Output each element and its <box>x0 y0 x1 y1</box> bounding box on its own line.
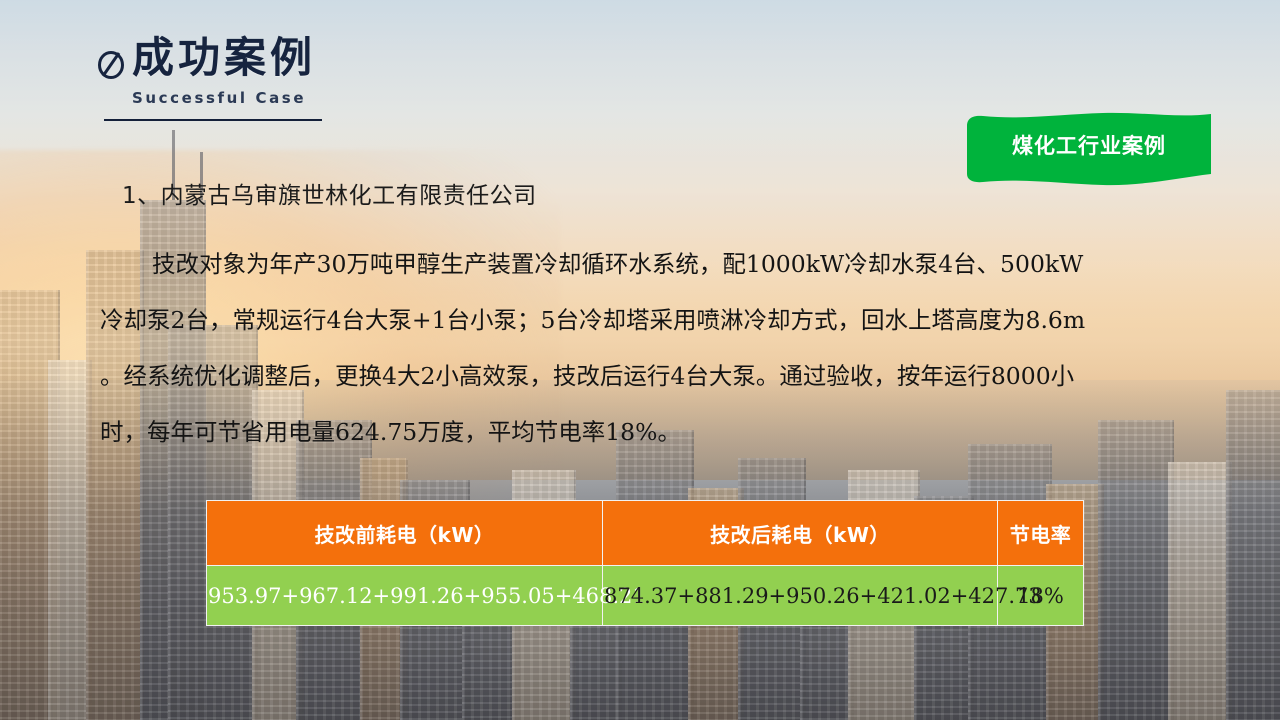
table-header-row: 技改前耗电（kW） 技改后耗电（kW） 节电率 <box>207 501 1084 566</box>
paragraph-line: 技改对象为年产30万吨甲醇生产装置冷却循环水系统，配1000kW冷却水泵4台、5… <box>100 236 1190 292</box>
paragraph-line: 。经系统优化调整后，更换4大2小高效泵，技改后运行4台大泵。通过验收，按年运行8… <box>100 348 1190 404</box>
presentation-slide: 成功案例 Successful Case 煤化工行业案例 1、内蒙古乌审旗世林化… <box>0 0 1280 720</box>
title-underline-divider <box>104 119 322 121</box>
table-header-cell-before: 技改前耗电（kW） <box>207 501 603 566</box>
circle-slash-icon <box>96 42 126 74</box>
energy-saving-table: 技改前耗电（kW） 技改后耗电（kW） 节电率 953.97+967.12+99… <box>206 500 1084 626</box>
table-row: 953.97+967.12+991.26+955.05+468.21 874.3… <box>207 566 1084 626</box>
paragraph-line: 冷却泵2台，常规运行4台大泵+1台小泵；5台冷却塔采用喷淋冷却方式，回水上塔高度… <box>100 292 1190 348</box>
table-header-cell-rate: 节电率 <box>998 501 1084 566</box>
paragraph-line: 时，每年可节省用电量624.75万度，平均节电率18%。 <box>100 404 1190 460</box>
table-header-cell-after: 技改后耗电（kW） <box>603 501 998 566</box>
table-cell-before-value: 953.97+967.12+991.26+955.05+468.21 <box>207 566 603 626</box>
industry-case-banner-label: 煤化工行业案例 <box>963 130 1215 160</box>
slide-title-block: 成功案例 Successful Case <box>96 34 322 121</box>
slide-body: 1、内蒙古乌审旗世林化工有限责任公司 技改对象为年产30万吨甲醇生产装置冷却循环… <box>100 176 1190 460</box>
case-paragraph: 技改对象为年产30万吨甲醇生产装置冷却循环水系统，配1000kW冷却水泵4台、5… <box>100 236 1190 460</box>
page-title-text: 成功案例 <box>132 34 316 81</box>
page-title: 成功案例 <box>96 34 322 81</box>
table-cell-after-value: 874.37+881.29+950.26+421.02+427.73 <box>603 566 998 626</box>
page-subtitle: Successful Case <box>132 89 322 107</box>
case-heading: 1、内蒙古乌审旗世林化工有限责任公司 <box>122 176 1190 210</box>
